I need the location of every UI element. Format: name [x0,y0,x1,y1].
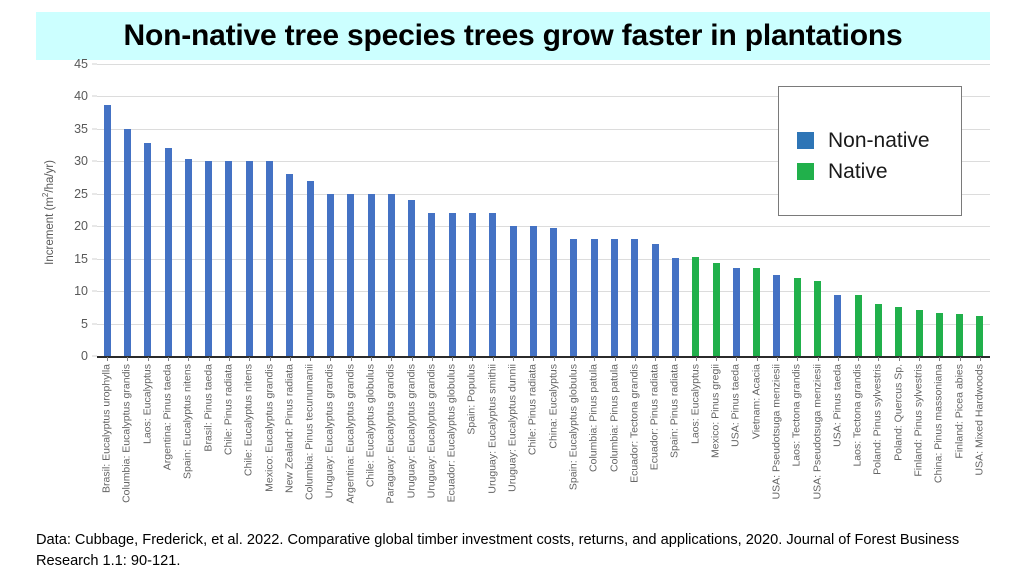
x-label-slot: Chile: Eucalyptus globulus [361,360,381,528]
x-tick-label: Chile: Pinus radiata [223,364,234,455]
bar-slot [706,64,726,356]
legend-item[interactable]: Non-native [797,125,930,156]
x-tick-label: Vietnam: Acacia [751,364,762,439]
x-tick-label: USA: Pinus taeda [731,364,742,447]
bar[interactable] [570,239,577,356]
bar-slot [381,64,401,356]
bar-slot [483,64,503,356]
bar[interactable] [388,194,395,356]
bar[interactable] [368,194,375,356]
page-title: Non-native tree species trees grow faste… [123,19,902,53]
bar[interactable] [205,161,212,356]
x-label-slot: Chile: Pinus radiata [219,360,239,528]
x-label-slot: New Zealand: Pinus radiata [280,360,300,528]
y-tick-label: 5 [81,317,88,331]
bar[interactable] [611,239,618,356]
bar[interactable] [428,213,435,356]
x-tick-label: Finland: Pinus sylvestris [914,364,925,477]
x-label-slot: Poland: Pinus sylvestris [868,360,888,528]
bar-slot [564,64,584,356]
x-tick-label: Spain: Eucalyptus globulus [568,364,579,490]
x-tick-label: Brasil: Pinus taeda [203,364,214,452]
x-tick-label: Brasil: Eucalyptus urophylla [102,364,113,493]
bar[interactable] [936,313,943,356]
chart-legend: Non-nativeNative [778,86,962,216]
bar[interactable] [976,316,983,356]
bar-slot [665,64,685,356]
y-tick-label: 30 [74,154,88,168]
y-axis-title-text: Increment (m2/ha/yr) [41,160,56,265]
x-tick-label: Columbia: Eucalyptus grandis [122,364,133,503]
x-tick-label: Laos: Eucalyptus [690,364,701,444]
x-tick-label: Argentina: Pinus taeda [163,364,174,470]
bar[interactable] [692,257,699,356]
x-label-slot: Spain: Populus [462,360,482,528]
bar[interactable] [773,275,780,356]
bar-slot [320,64,340,356]
x-tick-label: Mexico: Pinus gregii [711,364,722,458]
title-banner: Non-native tree species trees grow faste… [36,12,990,60]
bar-slot [645,64,665,356]
bar-slot [300,64,320,356]
bar[interactable] [225,161,232,356]
x-label-slot: Spain: Eucalyptus nitens [178,360,198,528]
x-label-slot: Chile: Pinus radiata [523,360,543,528]
x-label-slot: Uruguay: Eucalyptus grandis [401,360,421,528]
x-label-slot: Mexico: Pinus gregii [706,360,726,528]
bar[interactable] [144,143,151,356]
y-tick-label: 25 [74,187,88,201]
x-tick-label: Laos: Tectona grandis [853,364,864,467]
x-tick-label: Laos: Eucalyptus [142,364,153,444]
x-tick-label: China: Pinus massoniana [934,364,945,483]
x-tick-label: Uruguay: Eucalyptus grandis [406,364,417,498]
x-tick-label: Ecuador: Tectona grandis [629,364,640,483]
x-label-slot: Uruguay: Eucalyptus dunnii [503,360,523,528]
bar-slot [686,64,706,356]
y-tick-label: 20 [74,219,88,233]
bar[interactable] [956,314,963,356]
x-tick-label: Chile: Eucalyptus globulus [366,364,377,487]
x-label-slot: Laos: Tectona grandis [787,360,807,528]
bar[interactable] [855,295,862,356]
x-label-slot: USA: Pseudotsuga menziesii [767,360,787,528]
y-tick-label: 15 [74,252,88,266]
x-tick-label: USA: Pinus taeda [832,364,843,447]
bar-slot [280,64,300,356]
bar-slot [422,64,442,356]
y-tick-label: 45 [74,57,88,71]
bar[interactable] [246,161,253,356]
bar[interactable] [550,228,557,356]
y-tick-label: 10 [74,284,88,298]
x-tick-label: Spain: Eucalyptus nitens [183,364,194,479]
bar-slot [462,64,482,356]
bar-slot [117,64,137,356]
x-label-slot: China: Eucalyptus [544,360,564,528]
bar-slot [544,64,564,356]
x-label-slot: Mexico: Eucalyptus grandis [259,360,279,528]
x-tick-label: Ecuador: Pinus radiata [650,364,661,470]
x-label-slot: Finland: Pinus sylvestris [909,360,929,528]
x-label-slot: Uruguay: Eucalyptus grandis [320,360,340,528]
legend-label: Native [828,160,888,184]
x-label-slot: Paraguay: Eucalyptus grandis [381,360,401,528]
y-axis-ticks: 051015202530354045 [66,64,92,356]
bar[interactable] [104,105,111,356]
x-label-slot: Brasil: Eucalyptus urophylla [97,360,117,528]
x-tick-label: Uruguay: Eucalyptus smithii [487,364,498,494]
x-tick-label: Ecuador: Eucalyptus globulus [447,364,458,502]
bar[interactable] [347,194,354,356]
plot-area: 051015202530354045 Non-nativeNative [66,64,990,356]
x-tick-label: Columbia: Pinus tecunumanii [305,364,316,500]
legend-items: Non-nativeNative [797,125,930,187]
x-label-slot: Columbia: Pinus patula [604,360,624,528]
bar[interactable] [916,310,923,356]
x-label-slot: USA: Pinus taeda [726,360,746,528]
x-axis-labels: Brasil: Eucalyptus urophyllaColumbia: Eu… [97,360,990,528]
bar[interactable] [875,304,882,356]
x-tick-label: Columbia: Pinus patula [589,364,600,472]
x-tick-label: Mexico: Eucalyptus grandis [264,364,275,492]
x-label-slot: Uruguay: Eucalyptus grandis [422,360,442,528]
bar-slot [259,64,279,356]
x-tick-label: Spain: Populus [467,364,478,435]
x-tick-label: Uruguay: Eucalyptus grandis [325,364,336,498]
bar-slot [970,64,990,356]
bar[interactable] [591,239,598,356]
bar[interactable] [489,213,496,356]
bar[interactable] [530,226,537,356]
x-label-slot: Columbia: Pinus tecunumanii [300,360,320,528]
bar-slot [138,64,158,356]
bar[interactable] [469,213,476,356]
bar-slot [726,64,746,356]
x-label-slot: Columbia: Pinus patula [584,360,604,528]
x-label-slot: China: Pinus massoniana [929,360,949,528]
y-axis-title: Increment (m2/ha/yr) [38,62,58,362]
x-tick-label: USA: Mixed Hardwoods [974,364,985,475]
x-label-slot: Chile: Eucalyptus nitens [239,360,259,528]
y-tick-label: 0 [81,349,88,363]
legend-label: Non-native [828,129,930,153]
bar-slot [178,64,198,356]
x-tick-label: Poland: Quercus Sp. [893,364,904,461]
legend-swatch-non-native [797,132,814,149]
bar-slot [341,64,361,356]
x-label-slot: Vietnam: Acacia [747,360,767,528]
slide-canvas: Non-native tree species trees grow faste… [0,0,1024,581]
x-label-slot: Laos: Tectona grandis [848,360,868,528]
bar[interactable] [814,281,821,356]
y-tick-label: 40 [74,89,88,103]
chart-container: Increment (m2/ha/yr) 051015202530354045 … [36,62,990,524]
x-tick-label: China: Eucalyptus [548,364,559,449]
x-label-slot: Argentina: Eucalyptus grandis [341,360,361,528]
x-label-slot: Laos: Eucalyptus [686,360,706,528]
bar[interactable] [327,194,334,356]
bar-slot [361,64,381,356]
x-tick-label: Uruguay: Eucalyptus grandis [426,364,437,498]
x-tick-label: Paraguay: Eucalyptus grandis [386,364,397,504]
x-tick-label: Argentina: Eucalyptus grandis [345,364,356,504]
bar[interactable] [185,159,192,356]
bar-slot [219,64,239,356]
legend-item[interactable]: Native [797,156,930,187]
x-label-slot: Ecuador: Tectona grandis [625,360,645,528]
source-caption: Data: Cubbage, Frederick, et al. 2022. C… [36,530,996,572]
bar-slot [584,64,604,356]
x-tick-label: USA: Pseudotsuga menziesii [812,364,823,499]
x-tick-label: New Zealand: Pinus radiata [284,364,295,493]
bar[interactable] [307,181,314,356]
x-label-slot: Finland: Picea abies [949,360,969,528]
x-label-slot: USA: Mixed Hardwoods [970,360,990,528]
bar[interactable] [510,226,517,356]
x-label-slot: Argentina: Pinus taeda [158,360,178,528]
x-tick-label: Uruguay: Eucalyptus dunnii [508,364,519,492]
bar-slot [523,64,543,356]
bar[interactable] [895,307,902,356]
y-tick-label: 35 [74,122,88,136]
x-label-slot: Poland: Quercus Sp. [889,360,909,528]
x-tick-label: Columbia: Pinus patula [609,364,620,472]
x-tick-label: USA: Pseudotsuga menziesii [771,364,782,499]
bar[interactable] [652,244,659,356]
legend-swatch-native [797,163,814,180]
x-tick-label: Spain: Pinus radiata [670,364,681,458]
bar[interactable] [672,258,679,356]
bar[interactable] [834,295,841,356]
x-label-slot: USA: Pinus taeda [828,360,848,528]
x-label-slot: USA: Pseudotsuga menziesii [807,360,827,528]
x-label-slot: Ecuador: Pinus radiata [645,360,665,528]
x-label-slot: Spain: Pinus radiata [665,360,685,528]
x-tick-label: Laos: Tectona grandis [792,364,803,467]
bar[interactable] [733,268,740,356]
x-tick-label: Poland: Pinus sylvestris [873,364,884,475]
bar-slot [198,64,218,356]
bar[interactable] [408,200,415,356]
x-label-slot: Laos: Eucalyptus [138,360,158,528]
x-label-slot: Columbia: Eucalyptus grandis [117,360,137,528]
bar-slot [239,64,259,356]
bar-slot [442,64,462,356]
bar-slot [503,64,523,356]
x-tick-label: Finland: Picea abies [954,364,965,459]
bar-slot [625,64,645,356]
x-tick-label: Chile: Pinus radiata [528,364,539,455]
bar[interactable] [124,129,131,356]
bar-slot [401,64,421,356]
bar[interactable] [266,161,273,356]
bar[interactable] [449,213,456,356]
bar-slot [604,64,624,356]
bar-slot [158,64,178,356]
bar[interactable] [631,239,638,356]
x-label-slot: Spain: Eucalyptus globulus [564,360,584,528]
x-tick-label: Chile: Eucalyptus nitens [244,364,255,476]
bar-slot [747,64,767,356]
bar[interactable] [753,268,760,356]
x-label-slot: Ecuador: Eucalyptus globulus [442,360,462,528]
x-label-slot: Uruguay: Eucalyptus smithii [483,360,503,528]
bar[interactable] [713,263,720,356]
bar[interactable] [794,278,801,356]
bar-slot [97,64,117,356]
x-label-slot: Brasil: Pinus taeda [198,360,218,528]
bar[interactable] [165,148,172,356]
bar[interactable] [286,174,293,356]
